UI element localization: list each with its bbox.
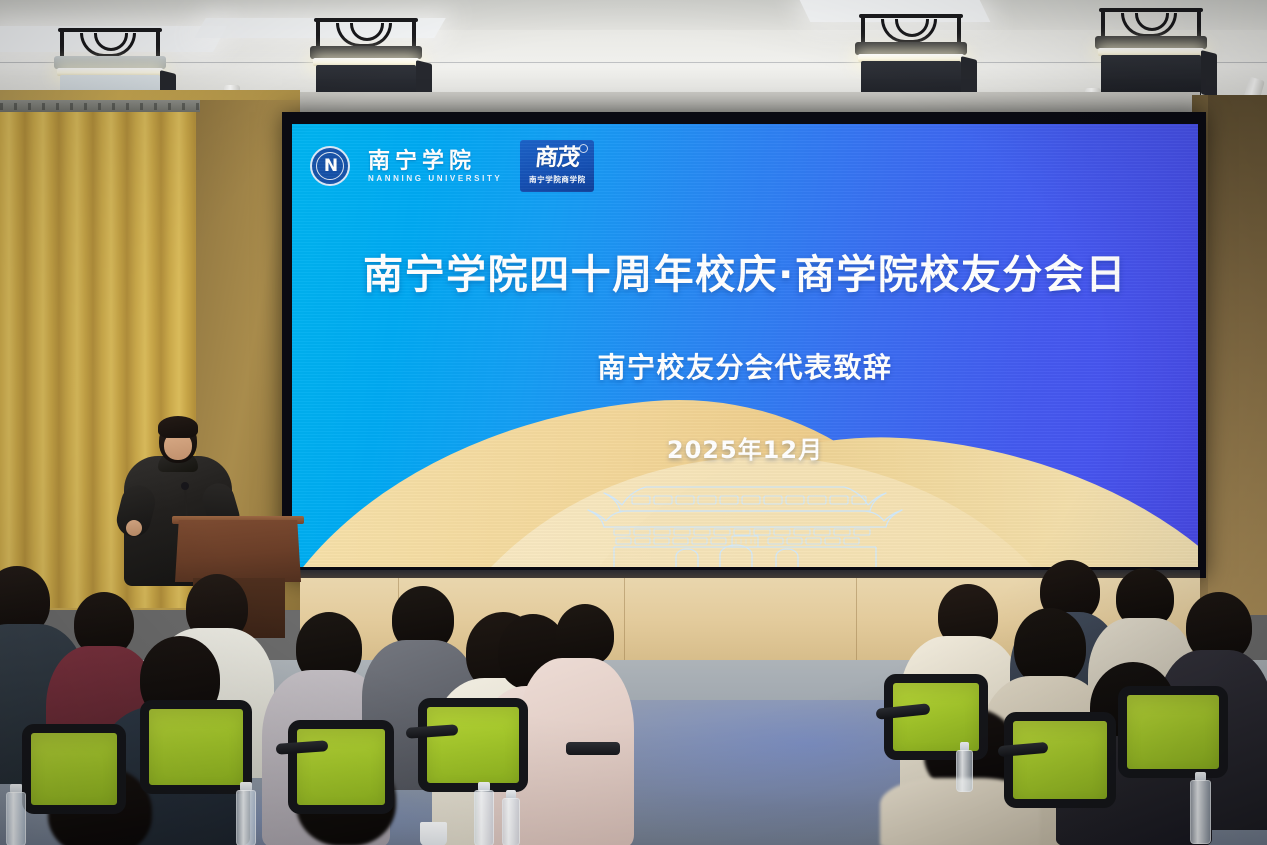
slide-date: 2025年12月 <box>292 430 1198 465</box>
chair-backrest <box>418 698 528 792</box>
light-arm-right <box>957 17 961 45</box>
auditorium-scene: N 南宁学院 NANNING UNIVERSITY 商茂 南宁学院商学院 南宁学… <box>0 0 1267 845</box>
ceiling-seam <box>0 62 1267 63</box>
stage-panel-seam <box>624 578 625 666</box>
curtain-rings <box>0 103 200 110</box>
bottle-body <box>502 798 520 845</box>
light-bracket <box>58 28 162 32</box>
water-bottle[interactable] <box>6 784 26 845</box>
business-school-badge: 商茂 南宁学院商学院 <box>520 140 594 192</box>
light-bracket <box>314 18 418 22</box>
slide-logo-row: N 南宁学院 NANNING UNIVERSITY 商茂 南宁学院商学院 <box>310 140 594 192</box>
audience-chair[interactable] <box>140 700 252 794</box>
stage-light-4 <box>1095 8 1207 100</box>
audience-chair[interactable] <box>418 698 528 792</box>
nanning-university-seal-icon: N <box>310 146 350 186</box>
light-arm-left <box>316 21 320 49</box>
badge-seal-dot-icon <box>579 144 588 153</box>
bottle-body <box>956 750 973 792</box>
audience-chair[interactable] <box>1118 686 1228 778</box>
chair-writing-tablet <box>566 742 620 755</box>
chair-backrest <box>1004 712 1116 808</box>
presenter-left-hand <box>126 520 142 536</box>
podium <box>175 520 301 582</box>
water-bottle[interactable] <box>502 790 520 845</box>
podium-microphone-head-icon <box>181 482 189 490</box>
light-bracket <box>1099 8 1203 12</box>
water-bottle[interactable] <box>1190 772 1211 844</box>
chair-backrest <box>288 720 394 814</box>
chair-backrest <box>1118 686 1228 778</box>
presenter-hair <box>158 416 198 438</box>
water-bottle[interactable] <box>236 782 256 845</box>
bottle-body <box>1190 780 1211 844</box>
university-name-cn: 南宁学院 <box>368 149 502 172</box>
audience-chair[interactable] <box>1004 712 1116 808</box>
attendee-head <box>556 604 614 666</box>
paper-cup[interactable] <box>420 822 447 845</box>
audience-chair[interactable] <box>22 724 126 814</box>
presentation-slide: N 南宁学院 NANNING UNIVERSITY 商茂 南宁学院商学院 南宁学… <box>292 124 1198 567</box>
light-arm-right <box>1197 11 1201 39</box>
seal-inner-ring <box>316 152 344 180</box>
water-bottle[interactable] <box>474 782 494 845</box>
university-wordmark: 南宁学院 NANNING UNIVERSITY <box>368 149 502 183</box>
bottle-body <box>236 790 256 845</box>
bottle-body <box>474 790 494 845</box>
stage-panel-seam <box>856 578 857 666</box>
bottle-body <box>6 792 26 845</box>
light-bracket <box>859 14 963 18</box>
university-name-en: NANNING UNIVERSITY <box>368 174 502 183</box>
badge-calligraphy: 商茂 <box>534 147 580 170</box>
light-arm-right <box>156 31 160 59</box>
light-arm-left <box>1101 11 1105 39</box>
slide-title: 南宁学院四十周年校庆·商学院校友分会日 <box>292 242 1198 300</box>
chinese-gate-line-art <box>580 465 910 567</box>
chair-backrest <box>22 724 126 814</box>
chair-backrest <box>140 700 252 794</box>
audience-chair[interactable] <box>288 720 394 814</box>
attendee-head <box>1014 608 1086 686</box>
presenter-glasses-icon <box>164 437 192 443</box>
light-arm-left <box>60 31 64 59</box>
badge-caption-cn: 南宁学院商学院 <box>529 174 586 185</box>
right-wall-wood-inner <box>1208 95 1267 615</box>
light-barn-door <box>1201 50 1217 98</box>
light-arm-left <box>861 17 865 45</box>
light-arm-right <box>412 21 416 49</box>
water-bottle[interactable] <box>956 742 973 792</box>
slide-subtitle: 南宁校友分会代表致辞 <box>292 346 1198 386</box>
